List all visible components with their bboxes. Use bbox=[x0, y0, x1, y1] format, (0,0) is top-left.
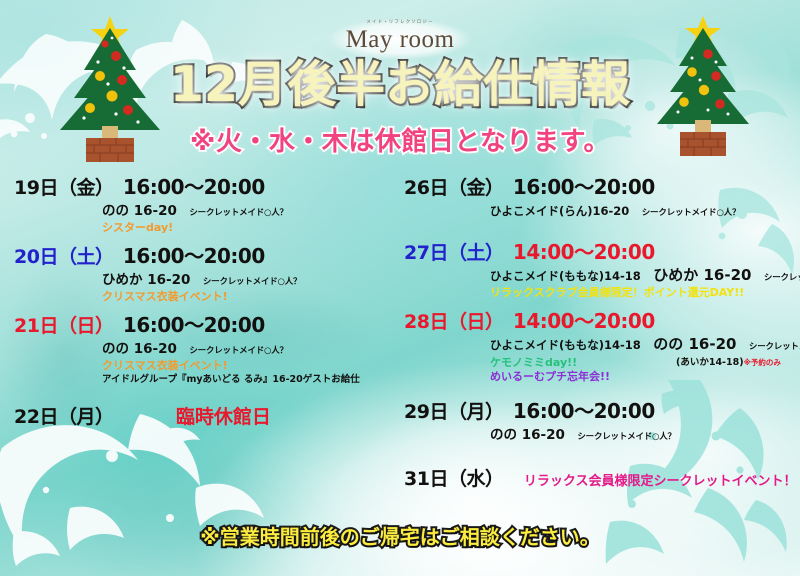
page-title: 12月後半お給仕情報 bbox=[0, 56, 800, 114]
schedule-entry-21: 21日（日） 16:00～20:00 のの 16-20 シークレットメイド○人？… bbox=[14, 314, 414, 386]
entry-secret-maid: シークレットメイド○人？ bbox=[577, 432, 676, 442]
schedule-section: 19日（金） 16:00～20:00 のの 16-20 シークレットメイド○人？… bbox=[0, 172, 800, 512]
poster-header: メイド・リフレクソロジー May room 12月後半お給仕情報 ※火・水・木は… bbox=[0, 0, 800, 172]
entry-time: 16:00～20:00 bbox=[123, 175, 265, 199]
closed-days-notice: ※火・水・木は休館日となります。 bbox=[0, 126, 800, 158]
schedule-entry-29: 29日（月） 16:00～20:00 のの 16-20 シークレットメイド○人？ bbox=[404, 400, 800, 445]
entry-note: リラックスクラブ会員様限定！ポイント還元DAY!! bbox=[490, 286, 800, 300]
schedule-entry-22: 22日（月） 臨時休館日 bbox=[14, 406, 414, 430]
entry-day: 31日（水） bbox=[404, 468, 503, 490]
entry-secret-maid: シークレットメイド○人？ bbox=[203, 277, 302, 287]
entry-secret-maid: シークレットメイド○人？ bbox=[642, 208, 741, 218]
entry-note: クリスマス衣装イベント! bbox=[102, 290, 414, 304]
entry-extra-maid: (あいか14-18) bbox=[676, 357, 744, 368]
entry-secret-maid: シークレットメイド○人？ bbox=[749, 342, 800, 352]
footer-notice: ※営業時間前後のご帰宅はご相談ください。 bbox=[0, 524, 800, 550]
schedule-column-right: 26日（金） 16:00～20:00 ひよこメイド(らん)16-20 シークレッ… bbox=[396, 172, 796, 512]
entry-note-guest: アイドルグループ『myあいどる るみ』16-20ゲストお給仕 bbox=[102, 373, 414, 386]
entry-day: 20日（土） bbox=[14, 246, 113, 268]
schedule-column-left: 19日（金） 16:00～20:00 のの 16-20 シークレットメイド○人？… bbox=[0, 172, 400, 512]
entry-maids: のの 16-20 bbox=[102, 341, 177, 357]
entry-maids: のの 16-20 bbox=[102, 203, 177, 219]
brand-logo: メイド・リフレクソロジー May room bbox=[0, 16, 800, 56]
schedule-entry-28: 28日（日） 14:00～20:00 ひよこメイド(ももな)14-18 のの 1… bbox=[404, 310, 800, 384]
entry-time: 16:00～20:00 bbox=[513, 399, 655, 423]
entry-day: 21日（日） bbox=[14, 315, 113, 337]
schedule-entry-20: 20日（土） 16:00～20:00 ひめか 16-20 シークレットメイド○人… bbox=[14, 245, 414, 304]
schedule-entry-19: 19日（金） 16:00～20:00 のの 16-20 シークレットメイド○人？… bbox=[14, 176, 414, 235]
entry-note: シスターday! bbox=[102, 221, 414, 235]
entry-day: 28日（日） bbox=[404, 311, 503, 333]
entry-day: 22日（月） bbox=[14, 406, 113, 428]
entry-note-secondary: めいるーむプチ忘年会!! bbox=[490, 370, 800, 384]
schedule-entry-31: 31日（水） リラックス会員様限定シークレットイベント！ bbox=[404, 468, 800, 492]
entry-day: 19日（金） bbox=[14, 177, 113, 199]
entry-maids: のの 16-20 bbox=[490, 427, 565, 443]
entry-maids: ひめか 16-20 bbox=[102, 272, 190, 288]
entry-time: 16:00～20:00 bbox=[513, 175, 655, 199]
entry-closed-badge: 臨時休館日 bbox=[176, 406, 271, 428]
entry-maids: ひよこメイド(ももな)14-18 bbox=[490, 269, 641, 283]
entry-time: 16:00～20:00 bbox=[123, 313, 265, 337]
entry-secret-maid: シークレットメイド○人？ bbox=[189, 208, 288, 218]
poster-canvas: メイド・リフレクソロジー May room 12月後半お給仕情報 ※火・水・木は… bbox=[0, 0, 800, 576]
entry-maids-secondary: のの 16-20 bbox=[653, 335, 736, 353]
schedule-entry-26: 26日（金） 16:00～20:00 ひよこメイド(らん)16-20 シークレッ… bbox=[404, 176, 800, 221]
entry-secret-maid: シークレットメイド○人？ bbox=[764, 273, 800, 283]
entry-note: クリスマス衣装イベント! bbox=[102, 359, 414, 373]
entry-maids: ひよこメイド(らん)16-20 bbox=[490, 204, 629, 218]
logo-title: May room bbox=[346, 26, 455, 54]
entry-maids-secondary: ひめか 16-20 bbox=[653, 266, 751, 284]
entry-time: 14:00～20:00 bbox=[513, 309, 655, 333]
schedule-entry-27: 27日（土） 14:00～20:00 ひよこメイド(ももな)14-18 ひめか … bbox=[404, 241, 800, 300]
entry-maids: ひよこメイド(ももな)14-18 bbox=[490, 338, 641, 352]
entry-time: 16:00～20:00 bbox=[123, 244, 265, 268]
entry-secret-maid: シークレットメイド○人？ bbox=[189, 346, 288, 356]
entry-reservation-only: ※予約のみ bbox=[744, 358, 781, 367]
entry-day: 26日（金） bbox=[404, 177, 503, 199]
entry-note: ケモノミミday!! bbox=[490, 356, 577, 369]
entry-day: 27日（土） bbox=[404, 242, 503, 264]
entry-event: リラックス会員様限定シークレットイベント！ bbox=[524, 474, 797, 489]
entry-time: 14:00～20:00 bbox=[513, 240, 655, 264]
entry-day: 29日（月） bbox=[404, 401, 503, 423]
